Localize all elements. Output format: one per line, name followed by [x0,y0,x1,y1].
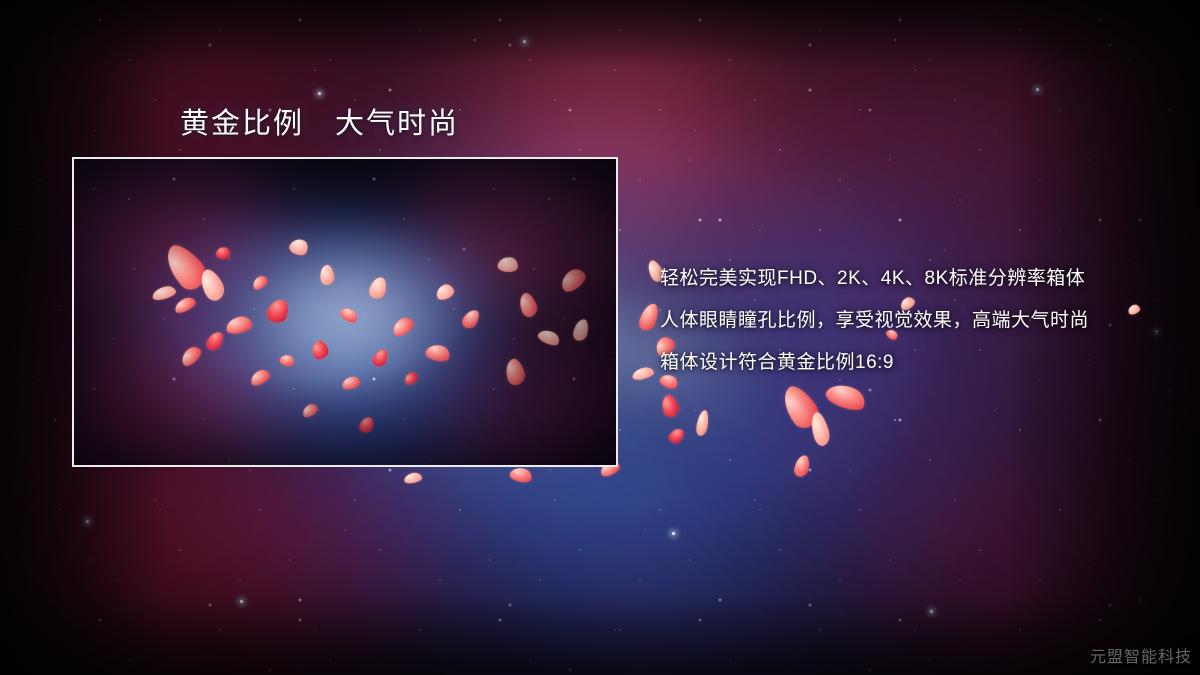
photo-frame[interactable] [72,157,618,467]
bright-star [240,600,243,603]
photo-content [74,159,616,465]
bright-star [1036,88,1039,91]
bright-star [318,92,321,95]
body-line-2: 人体眼睛瞳孔比例，享受视觉效果，高端大气时尚 [660,300,1160,342]
body-line-1: 轻松完美实现FHD、2K、4K、8K标准分辨率箱体 [660,258,1160,300]
watermark: 元盟智能科技 [1090,643,1192,667]
bright-star [930,610,933,613]
presentation-slide: 黄金比例 大气时尚 轻松完美实现FHD、2K、4K、8K标准分辨率箱体 人体眼睛… [0,0,1200,675]
bright-star [672,532,675,535]
body-line-3: 箱体设计符合黄金比例16:9 [660,342,1160,384]
bright-star [86,520,89,523]
photo-vignette [74,159,616,465]
page-title: 黄金比例 大气时尚 [180,100,459,142]
body-text-block: 轻松完美实现FHD、2K、4K、8K标准分辨率箱体 人体眼睛瞳孔比例，享受视觉效… [660,258,1160,384]
bright-star [523,40,526,43]
